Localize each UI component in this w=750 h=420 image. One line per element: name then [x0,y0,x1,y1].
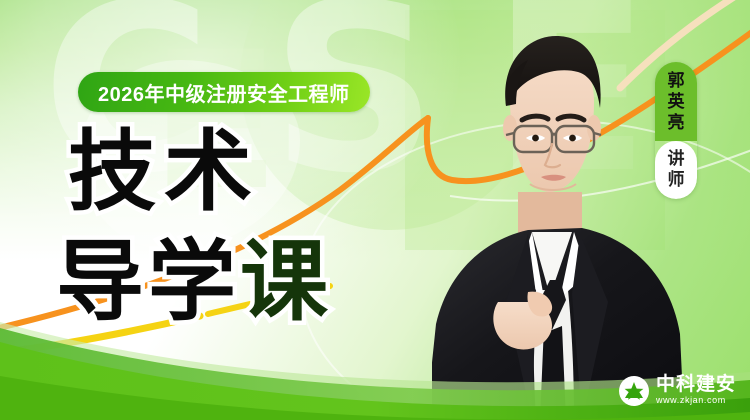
course-promo-banner: CSE E 2026年中级注册安全工程师 技术 导学课 [0,0,750,420]
logo-url: www.zkjan.com [656,395,736,406]
course-title-pill: 2026年中级注册安全工程师 [78,72,370,112]
instructor-name-badge: 郭 英 亮 讲 师 [655,62,697,199]
logo-mark-icon [619,376,649,406]
instructor-role-group: 讲 师 [655,141,697,199]
instructor-name-group: 郭 英 亮 [655,62,697,141]
instructor-name-char-1: 郭 [668,70,685,91]
course-title-label: 2026年中级注册安全工程师 [98,78,350,107]
instructor-name-char-3: 亮 [668,112,685,133]
headline-line-1: 技术 [68,128,260,216]
logo-text-group: 中科建安 www.zkjan.com [656,375,736,406]
instructor-role-char-1: 讲 [668,148,685,169]
instructor-role-char-2: 师 [668,169,685,190]
brand-logo: 中科建安 www.zkjan.com [619,375,736,406]
logo-brand-name: 中科建安 [656,375,736,395]
star-mountain-icon [621,378,647,404]
instructor-name-char-2: 英 [668,91,685,112]
